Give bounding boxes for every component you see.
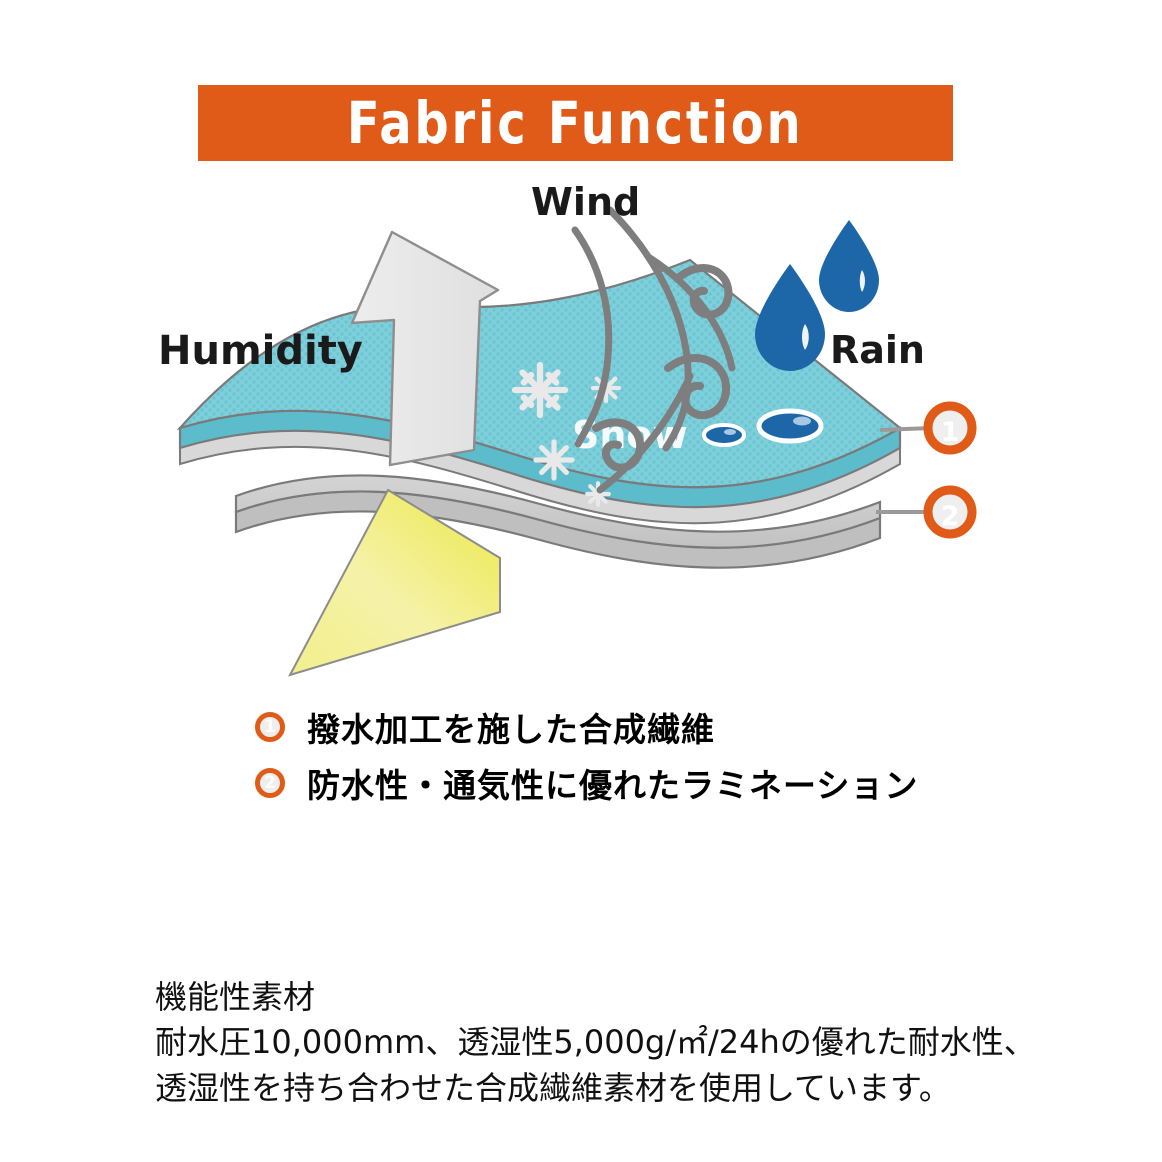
description-line-3: 透湿性を持ち合わせた合成繊維素材を使用しています。: [155, 1066, 1055, 1111]
legend-label-1: 撥水加工を施した合成繊維: [307, 703, 715, 751]
label-rain: Rain: [830, 331, 925, 369]
header-banner: Fabric Function: [198, 85, 953, 161]
description-block: 機能性素材 耐水圧10,000mm、透湿性5,000g/㎡/24hの優れた耐水性…: [155, 975, 1055, 1111]
page-title: Fabric Function: [347, 94, 804, 152]
label-humidity: Humidity: [158, 331, 363, 371]
legend-label-2: 防水性・通気性に優れたラミネーション: [307, 759, 918, 807]
legend-item: 2 防水性・通気性に優れたラミネーション: [255, 759, 1015, 807]
label-wind: Wind: [531, 183, 640, 221]
legend-item: 1 撥水加工を施した合成繊維: [255, 703, 1015, 751]
description-line-2: 耐水圧10,000mm、透湿性5,000g/㎡/24hの優れた耐水性、: [155, 1020, 1055, 1065]
legend-marker-1: 1: [255, 712, 285, 742]
legend-marker-2: 2: [255, 768, 285, 798]
svg-text:2: 2: [941, 501, 960, 532]
svg-text:1: 1: [941, 417, 960, 448]
description-line-1: 機能性素材: [155, 975, 1055, 1020]
legend: 1 撥水加工を施した合成繊維 2 防水性・通気性に優れたラミネーション: [255, 703, 1015, 815]
fabric-layer-diagram: Snow: [0, 160, 1162, 720]
callout-marker-1[interactable]: 1: [928, 406, 972, 450]
callout-marker-2[interactable]: 2: [928, 490, 972, 534]
